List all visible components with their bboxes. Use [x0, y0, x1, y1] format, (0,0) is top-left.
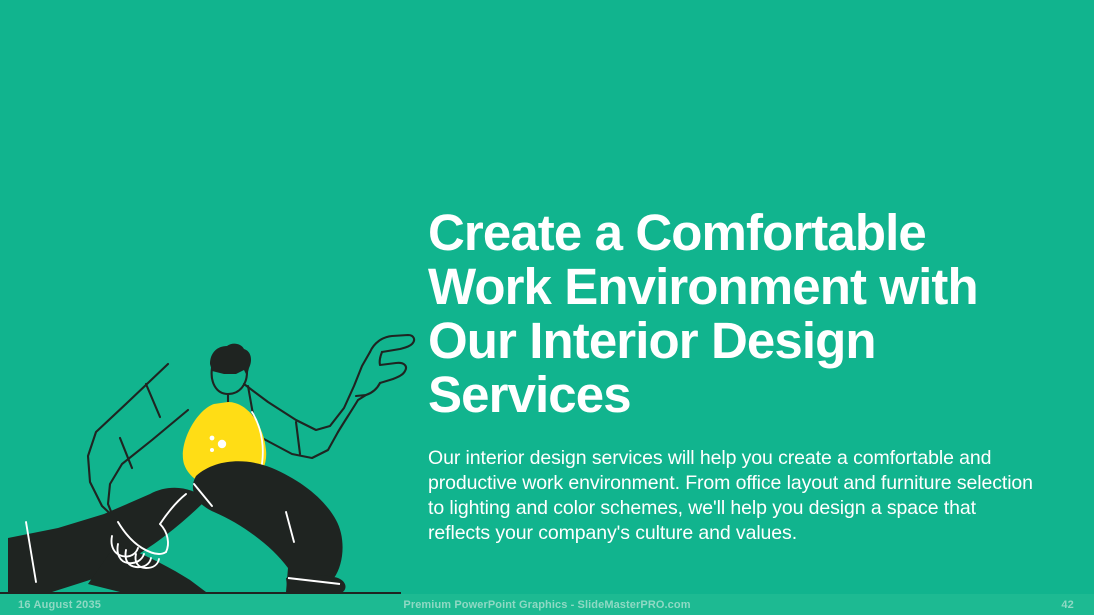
right-shoe-stripe	[288, 578, 340, 584]
pointing-hand-outline	[338, 335, 414, 432]
lower-hand-outline	[111, 522, 168, 568]
pants-highlight-lines	[26, 484, 294, 582]
pants-upper-shape	[193, 461, 343, 592]
hair-shape	[210, 344, 251, 376]
footer-page-number: 42	[1061, 599, 1074, 611]
illustration-svg	[0, 316, 420, 606]
pants-lower-shape	[8, 488, 206, 592]
page-title: Create a Comfortable Work Environment wi…	[428, 206, 1048, 422]
head-group	[210, 344, 251, 406]
pants-group	[8, 461, 343, 592]
lower-forearm-outline	[160, 494, 186, 524]
shirt-dot-small-a	[210, 436, 215, 441]
shirt-fold-highlight	[240, 412, 263, 494]
slide-footer: 16 August 2035 Premium PowerPoint Graphi…	[0, 594, 1094, 615]
text-column: Create a Comfortable Work Environment wi…	[428, 206, 1048, 546]
face-outline	[212, 368, 247, 394]
body-paragraph: Our interior design services will help y…	[428, 446, 1040, 546]
shirt-dot-small-b	[210, 448, 214, 452]
kneeling-person-pointing-illustration	[0, 316, 420, 606]
pants-shin-shape	[88, 544, 206, 592]
left-arm-outline	[88, 364, 188, 524]
shirt-shape	[183, 402, 266, 489]
presentation-slide: Create a Comfortable Work Environment wi…	[0, 0, 1094, 615]
shirt-dot-large	[218, 440, 226, 448]
footer-credit: Premium PowerPoint Graphics - SlideMaste…	[0, 599, 1094, 611]
shirt-group	[183, 402, 266, 494]
right-arm-outline	[236, 352, 370, 458]
